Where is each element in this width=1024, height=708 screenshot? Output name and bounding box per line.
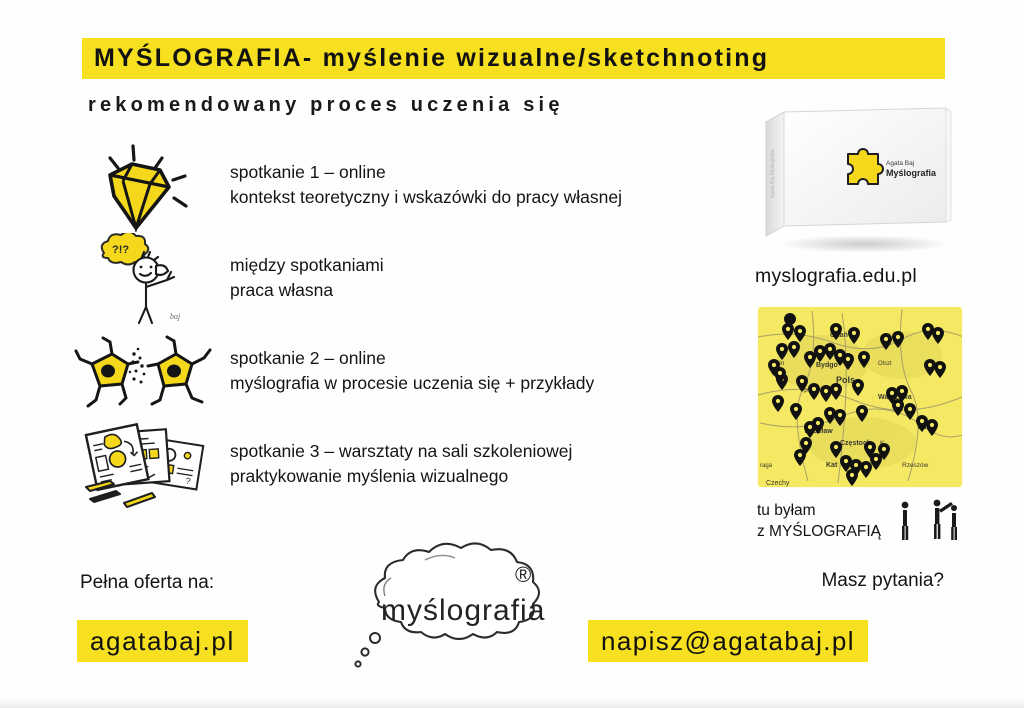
website-value: agatabaj.pl xyxy=(90,626,235,657)
svg-text:Olszt: Olszt xyxy=(878,361,892,367)
svg-text:raga: raga xyxy=(760,463,773,469)
list-item: spotkanie 1 – online kontekst teoretyczn… xyxy=(70,140,750,233)
book-mockup: Agata Baj Myślografia Agata Baj Myślogra… xyxy=(752,104,968,256)
step-line-2: myślografia w procesie uczenia się + prz… xyxy=(230,371,594,396)
svg-text:Bydgo: Bydgo xyxy=(816,362,838,369)
svg-text:Myślografia: Myślografia xyxy=(886,168,937,178)
offer-label: Pełna oferta na: xyxy=(80,572,214,594)
step-line-1: spotkanie 1 – online xyxy=(230,160,622,185)
list-item: ?!? baj między spotk xyxy=(70,233,750,326)
svg-text:myślografia: myślografia xyxy=(381,594,545,627)
bottom-edge-strip xyxy=(0,698,1024,708)
step-line-2: praktykowanie myślenia wizualnego xyxy=(230,464,572,489)
step-line-1: spotkanie 2 – online xyxy=(230,346,594,371)
svg-text:P: P xyxy=(804,388,808,395)
map-caption: tu byłam z MYŚLOGRAFIĄ xyxy=(757,500,881,542)
site-url[interactable]: myslografia.edu.pl xyxy=(755,265,917,288)
diamond-sparkle-icon xyxy=(70,140,220,232)
step-line-2: praca własna xyxy=(230,278,384,303)
map-caption-line-2: z MYŚLOGRAFIĄ xyxy=(757,521,881,542)
step-text: między spotkaniami praca własna xyxy=(230,253,384,303)
step-line-1: między spotkaniami xyxy=(230,253,384,278)
myslografia-logo: myślografia ® xyxy=(333,538,567,684)
thinking-person-icon: ?!? baj xyxy=(70,233,220,325)
process-steps-list: spotkanie 1 – online kontekst teoretyczn… xyxy=(70,140,750,512)
page-subtitle: rekomendowany proces uczenia się xyxy=(88,94,564,117)
svg-text:Czechy: Czechy xyxy=(766,480,790,487)
step-text: spotkanie 2 – online myślografia w proce… xyxy=(230,346,594,396)
svg-text:®: ® xyxy=(515,562,531,587)
list-item: spotkanie 2 – online myślografia w proce… xyxy=(70,326,750,419)
step-text: spotkanie 1 – online kontekst teoretyczn… xyxy=(230,160,622,210)
poland-map-with-pins: Gdań cin Bydgo Pols Olszt Bia Warszawa P… xyxy=(752,303,968,493)
people-pictogram-icon xyxy=(895,498,965,544)
sketchnote-sheets-icon: ? xyxy=(70,419,220,511)
svg-text:Pols: Pols xyxy=(836,375,855,385)
svg-text:Rzeszów: Rzeszów xyxy=(902,462,929,469)
email-value: napisz@agatabaj.pl xyxy=(601,626,855,657)
svg-text:?!?: ?!? xyxy=(112,244,129,256)
list-item: ? xyxy=(70,419,750,512)
map-caption-line-1: tu byłam xyxy=(757,500,881,521)
step-line-1: spotkanie 3 – warsztaty na sali szkoleni… xyxy=(230,439,572,464)
step-text: spotkanie 3 – warsztaty na sali szkoleni… xyxy=(230,439,572,489)
website-chip[interactable]: agatabaj.pl xyxy=(77,620,248,662)
svg-text:Kat: Kat xyxy=(826,462,838,469)
neurons-synapse-icon xyxy=(70,326,220,418)
page-title: MYŚLOGRAFIA- myślenie wizualne/sketchnot… xyxy=(82,44,769,73)
slide-canvas: MYŚLOGRAFIA- myślenie wizualne/sketchnot… xyxy=(0,0,1024,708)
svg-text:Agata Baj: Agata Baj xyxy=(886,160,914,167)
questions-label: Masz pytania? xyxy=(821,570,944,592)
step-line-2: kontekst teoretyczny i wskazówki do prac… xyxy=(230,185,622,210)
svg-text:baj: baj xyxy=(170,312,181,321)
svg-text:Agata Baj Myślografia: Agata Baj Myślografia xyxy=(770,149,776,198)
email-chip[interactable]: napisz@agatabaj.pl xyxy=(588,620,868,662)
title-banner: MYŚLOGRAFIA- myślenie wizualne/sketchnot… xyxy=(82,38,945,79)
